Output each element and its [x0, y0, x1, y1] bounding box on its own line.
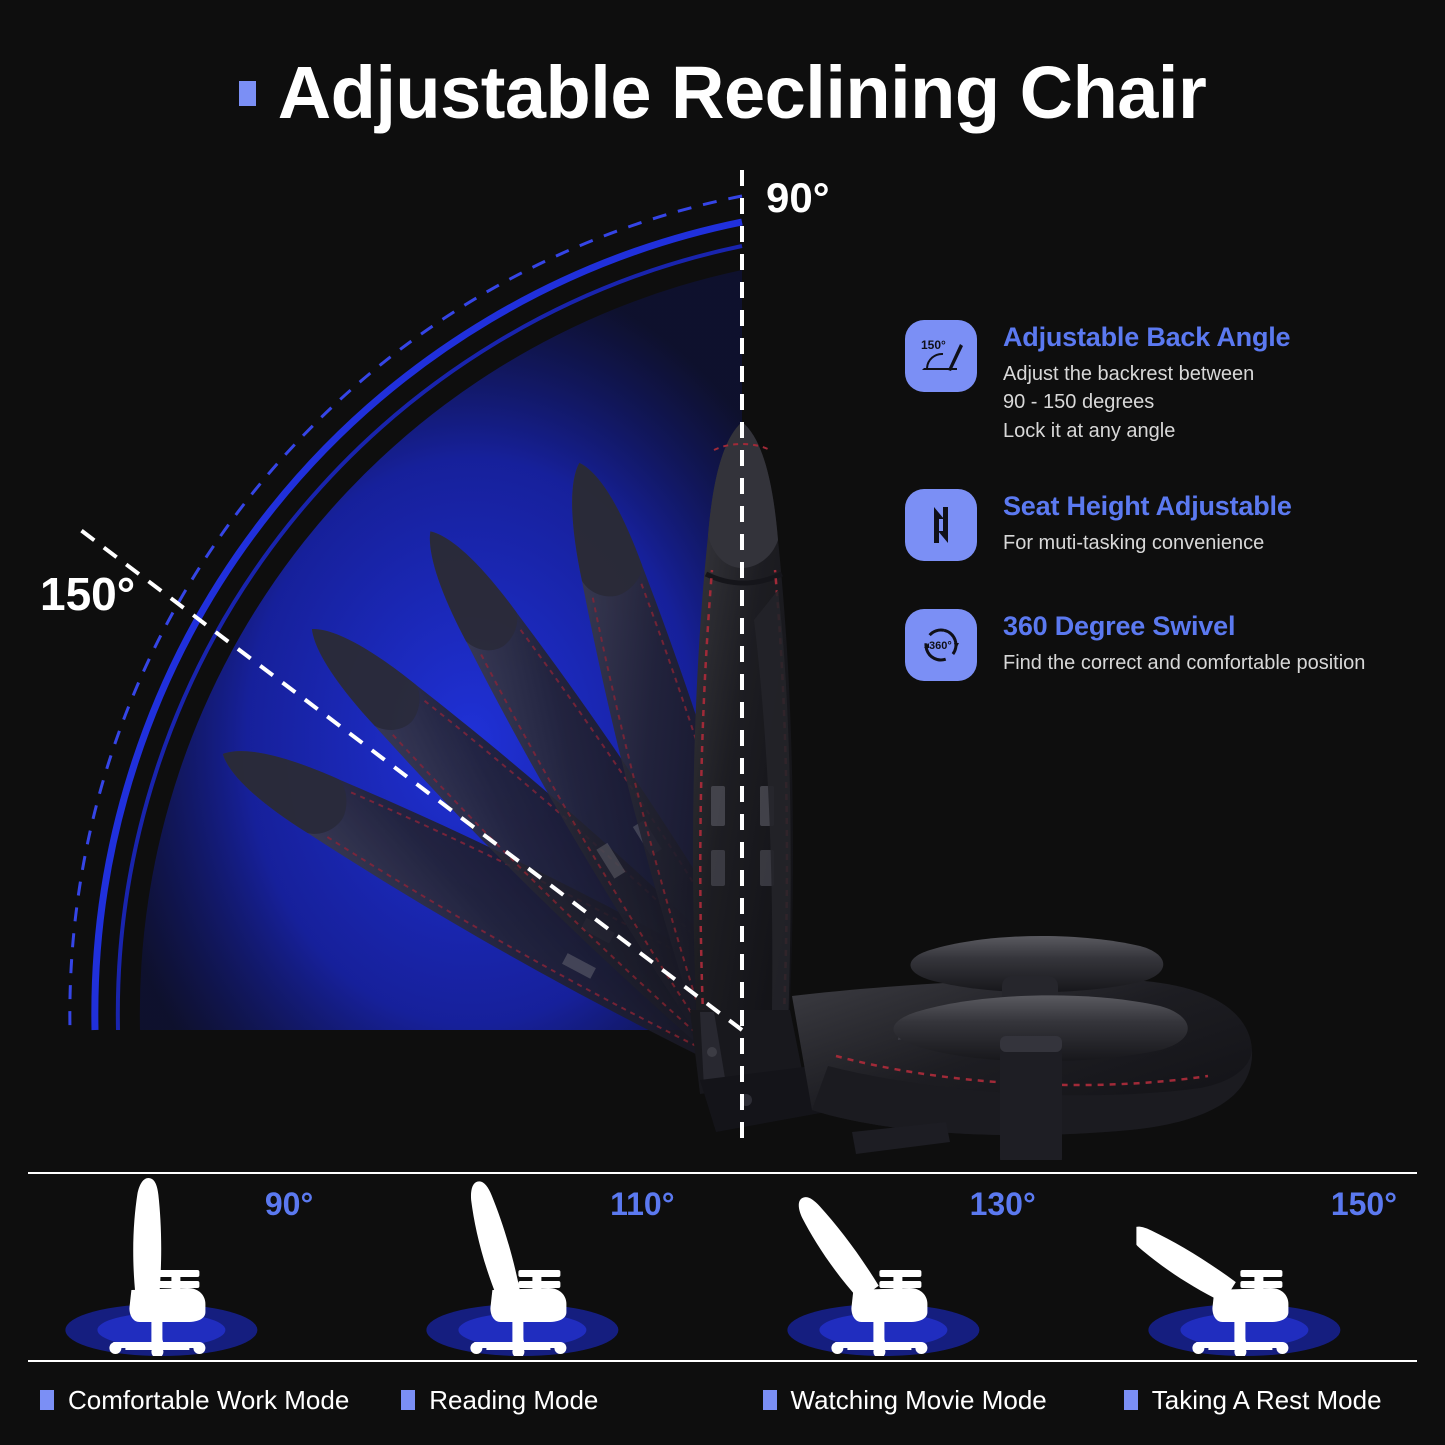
swivel-360-icon: 360° [905, 609, 977, 681]
divider-top [28, 1172, 1417, 1174]
square-bullet-icon [763, 1390, 777, 1410]
svg-text:150°: 150° [921, 338, 946, 352]
mode-silhouette-row: 90° [0, 1178, 1445, 1358]
mode-label-row: Comfortable Work Mode Reading Mode Watch… [0, 1372, 1445, 1428]
square-bullet-icon [239, 81, 256, 106]
feature-desc-line: 90 - 150 degrees [1003, 388, 1290, 416]
mode-label-item: Reading Mode [361, 1385, 722, 1416]
mode-cell: 150° [1084, 1178, 1445, 1358]
infographic-canvas: Adjustable Reclining Chair [0, 0, 1445, 1445]
feature-desc-line: For muti-tasking convenience [1003, 529, 1292, 557]
mode-label-item: Taking A Rest Mode [1084, 1385, 1445, 1416]
mode-label-item: Watching Movie Mode [723, 1385, 1084, 1416]
square-bullet-icon [40, 1390, 54, 1410]
feature-desc-line: Lock it at any angle [1003, 417, 1290, 445]
feature-list: 150° Adjustable Back Angle Adjust the ba… [905, 320, 1435, 717]
square-bullet-icon [401, 1390, 415, 1410]
feature-title: 360 Degree Swivel [1003, 611, 1365, 642]
feature-desc-line: Adjust the backrest between [1003, 360, 1290, 388]
feature-item: 360° 360 Degree Swivel Find the correct … [905, 609, 1435, 681]
mode-cell: 130° [723, 1178, 1084, 1358]
svg-text:360°: 360° [929, 640, 952, 652]
feature-item: 150° Adjustable Back Angle Adjust the ba… [905, 320, 1435, 445]
page-title-row: Adjustable Reclining Chair [0, 56, 1445, 130]
feature-title: Adjustable Back Angle [1003, 322, 1290, 353]
chair-silhouette-150 [1137, 1178, 1357, 1356]
feature-description: For muti-tasking convenience [1003, 529, 1292, 557]
mode-label: Reading Mode [429, 1385, 598, 1416]
feature-item: Seat Height Adjustable For muti-tasking … [905, 489, 1435, 561]
mode-label-item: Comfortable Work Mode [0, 1385, 361, 1416]
mode-cell: 110° [361, 1178, 722, 1358]
divider-bottom [28, 1360, 1417, 1362]
square-bullet-icon [1124, 1390, 1138, 1410]
mode-label: Comfortable Work Mode [68, 1385, 349, 1416]
feature-description: Adjust the backrest between 90 - 150 deg… [1003, 360, 1290, 445]
mode-label: Watching Movie Mode [791, 1385, 1047, 1416]
mode-cell: 90° [0, 1178, 361, 1358]
feature-title: Seat Height Adjustable [1003, 491, 1292, 522]
chair-silhouette-110 [414, 1178, 634, 1356]
recline-angle-150-icon: 150° [905, 320, 977, 392]
feature-desc-line: Find the correct and comfortable positio… [1003, 649, 1365, 677]
chair-silhouette-90 [53, 1178, 273, 1356]
page-title: Adjustable Reclining Chair [278, 56, 1207, 130]
chair-silhouette-130 [776, 1178, 996, 1356]
up-down-arrows-icon [905, 489, 977, 561]
feature-description: Find the correct and comfortable positio… [1003, 649, 1365, 677]
mode-label: Taking A Rest Mode [1152, 1385, 1382, 1416]
